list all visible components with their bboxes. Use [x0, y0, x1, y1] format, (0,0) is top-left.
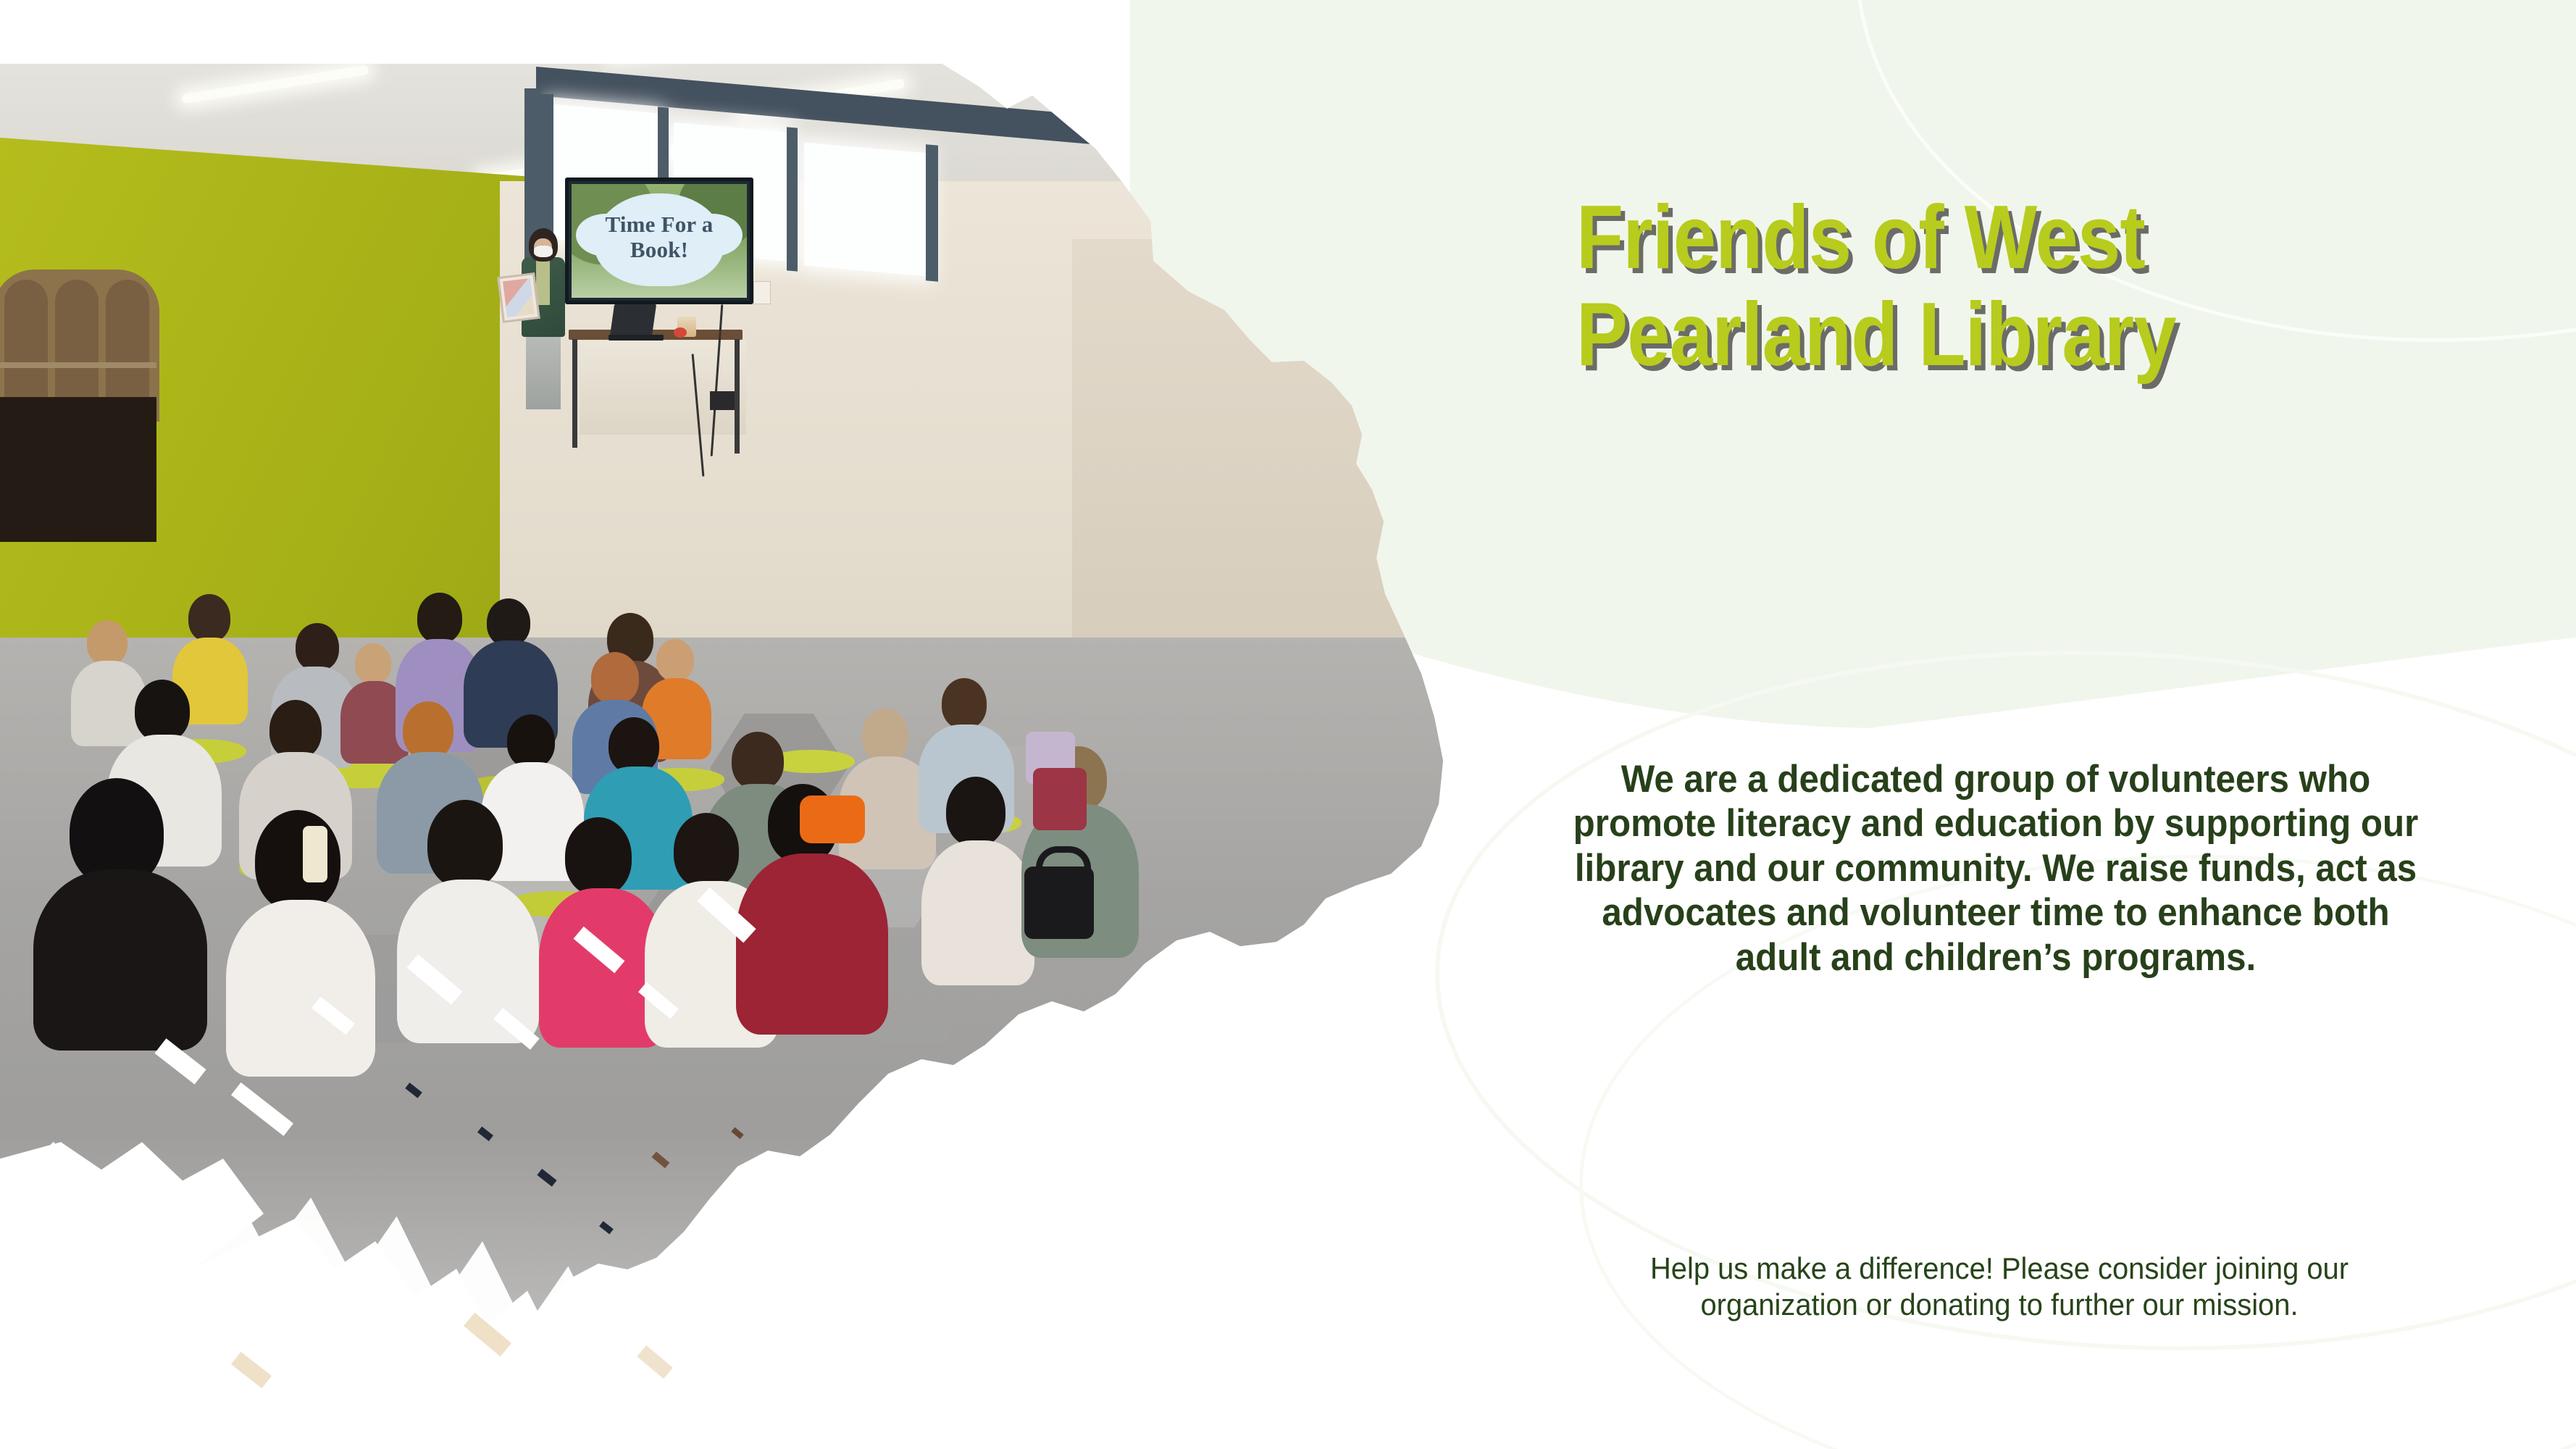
presenter-face-mask [534, 246, 553, 257]
window-mullion [787, 127, 798, 271]
screen-caption-line2: Book! [630, 237, 688, 262]
presenter [516, 228, 569, 409]
slide-canvas: Time For aBook! [0, 0, 2576, 1449]
ceiling-light [406, 0, 651, 36]
cubby-rail [0, 362, 156, 368]
presentation-screen: Time For aBook! [565, 178, 753, 304]
bag [1033, 768, 1087, 830]
desk-item-red [674, 327, 687, 338]
window-pane [804, 143, 927, 277]
presenter-skirt [526, 333, 561, 409]
window-mullion [926, 144, 938, 281]
keyboard [609, 335, 664, 341]
presenter-shirt [536, 260, 550, 305]
mission-statement: We are a dedicated group of volunteers w… [1561, 757, 2430, 980]
floor-box [710, 391, 735, 410]
water-bottle [303, 826, 327, 882]
table-leg [735, 339, 740, 454]
cabinet [580, 341, 746, 435]
cubby-void [0, 397, 156, 542]
laptop [610, 304, 656, 336]
page-title: Friends of West Pearland Library [1576, 190, 2355, 384]
presenter-book [497, 272, 540, 323]
wall-plate [753, 281, 771, 304]
screen-caption-line1: Time For a [606, 212, 714, 237]
screen-caption: Time For aBook! [569, 212, 750, 262]
backpack-strap [1036, 846, 1091, 879]
table-leg [572, 339, 577, 448]
ceiling-light [609, 17, 825, 60]
orange-bag [800, 796, 865, 843]
call-to-action: Help us make a difference! Please consid… [1573, 1250, 2426, 1324]
